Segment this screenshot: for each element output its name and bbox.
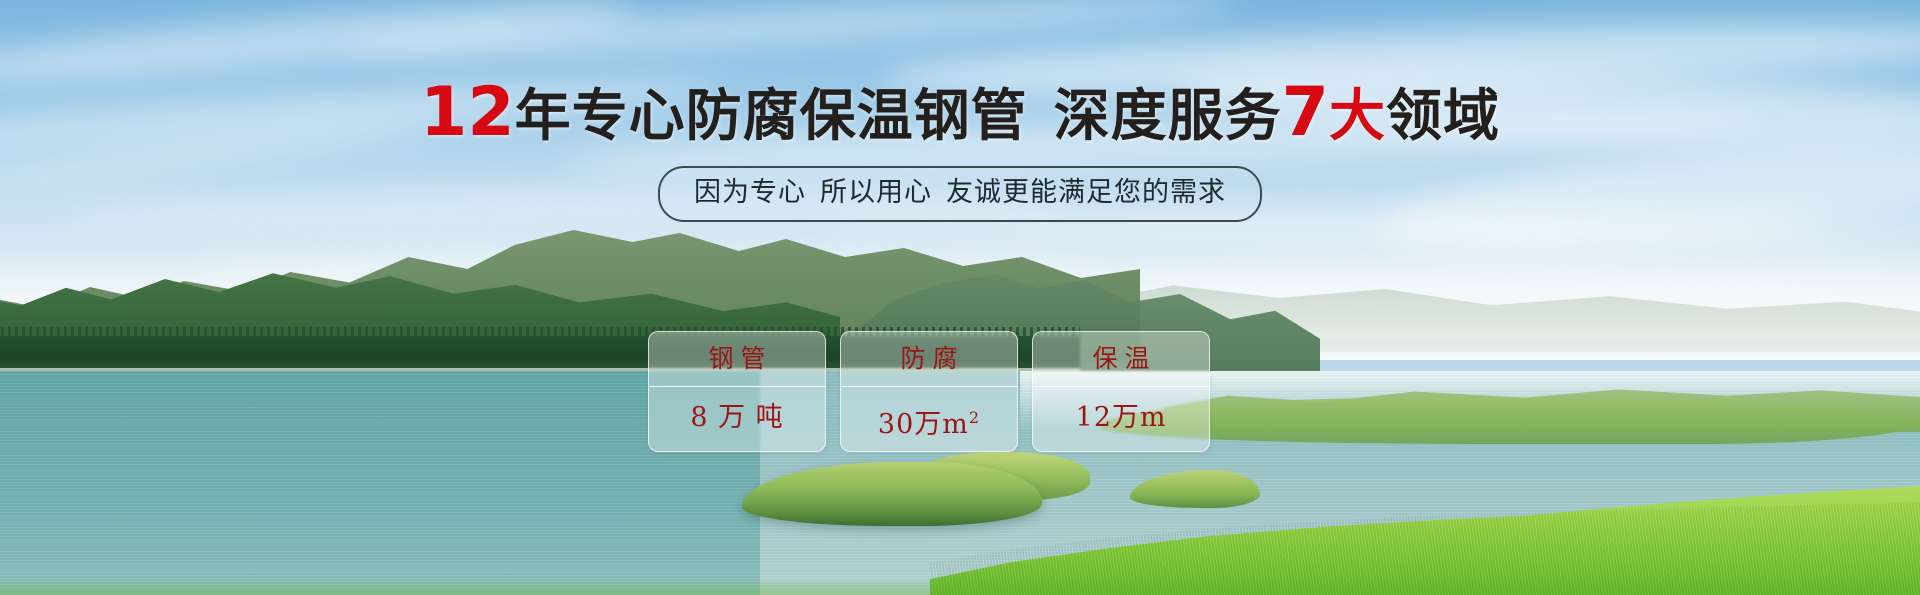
headline-years-number: 12 bbox=[420, 73, 515, 152]
banner-subtitle-wrapper: 因为专心所以用心友诚更能满足您的需求 bbox=[0, 166, 1920, 222]
stat-card-insulation: 保温 12万m bbox=[1032, 331, 1210, 452]
stat-card-title: 防腐 bbox=[893, 332, 964, 386]
stat-card-title: 保温 bbox=[1085, 332, 1156, 386]
stat-card-value-text: 12万m bbox=[1076, 402, 1167, 433]
hero-banner: 12年专心防腐保温钢管深度服务7大领域 因为专心所以用心友诚更能满足您的需求 钢… bbox=[0, 0, 1920, 595]
banner-headline: 12年专心防腐保温钢管深度服务7大领域 bbox=[0, 82, 1920, 148]
stat-card-value-superscript: 2 bbox=[969, 408, 980, 427]
headline-part-2: 深度服务 bbox=[1054, 84, 1282, 149]
subtitle-segment-1: 因为专心 bbox=[694, 177, 806, 208]
stat-card-title: 钢管 bbox=[701, 332, 772, 386]
subtitle-segment-2: 所以用心 bbox=[820, 177, 932, 208]
far-marshland-2 bbox=[1100, 398, 1920, 444]
stat-card-anticorrosion: 防腐 30万m2 bbox=[840, 331, 1018, 452]
banner-subtitle-pill: 因为专心所以用心友诚更能满足您的需求 bbox=[658, 166, 1262, 222]
bottom-grass-fade bbox=[0, 578, 1920, 595]
headline-fields-number: 7 bbox=[1282, 73, 1329, 152]
stat-card-group: 钢管 8 万 吨 防腐 30万m2 保温 12万m bbox=[648, 331, 1210, 452]
stat-card-value-text: 30万m bbox=[878, 409, 969, 440]
stat-card-value: 30万m2 bbox=[878, 387, 980, 449]
stat-card-steel-pipe: 钢管 8 万 吨 bbox=[648, 331, 826, 452]
stat-card-value: 8 万 吨 bbox=[690, 387, 783, 449]
stat-card-value-text: 8 万 吨 bbox=[690, 402, 783, 433]
subtitle-segment-3: 友诚更能满足您的需求 bbox=[946, 177, 1226, 208]
stat-card-value: 12万m bbox=[1076, 387, 1167, 449]
headline-da-character: 大 bbox=[1329, 84, 1386, 149]
headline-part-3: 领域 bbox=[1386, 84, 1500, 149]
headline-part-1: 年专心防腐保温钢管 bbox=[515, 84, 1028, 149]
